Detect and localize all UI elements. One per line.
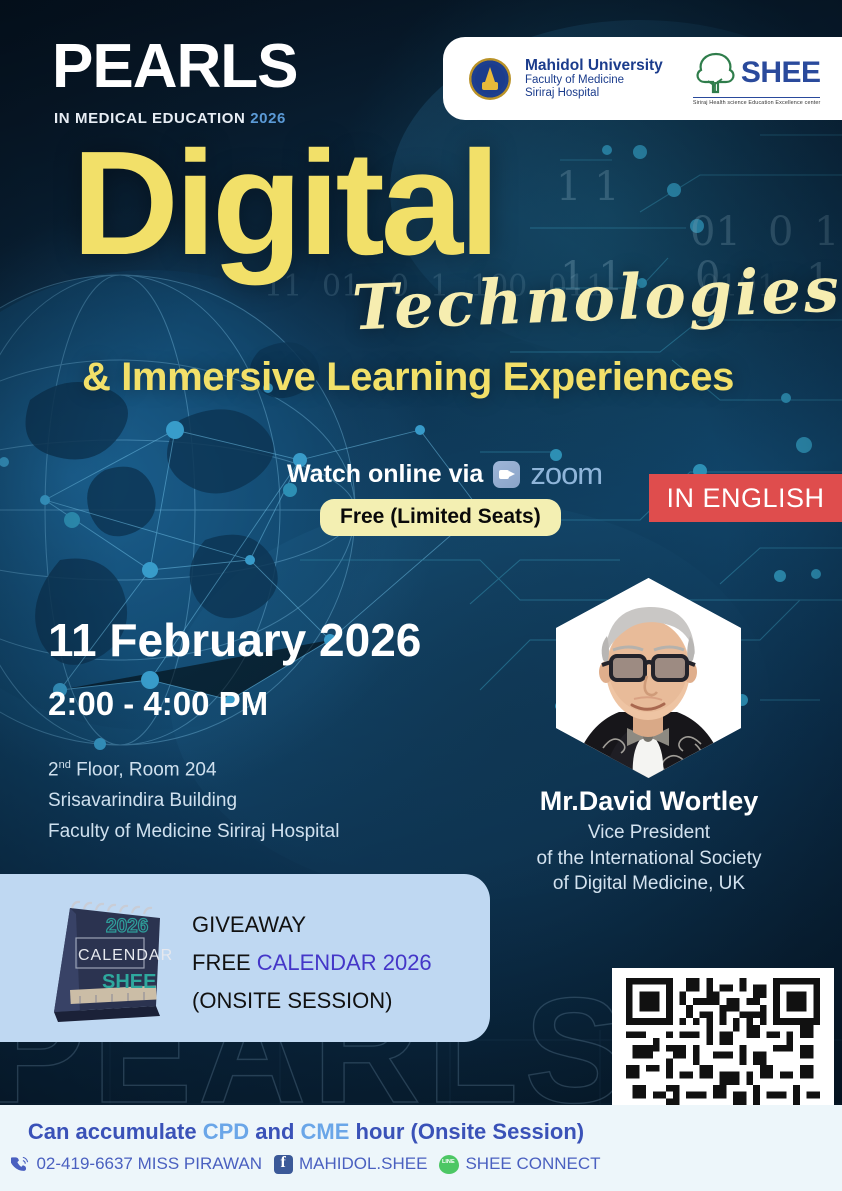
- contact-phone-label: 02-419-6637 MISS PIRAWAN: [36, 1154, 262, 1174]
- title-line-1: Digital: [72, 130, 496, 278]
- speaker-role: Vice President of the International Soci…: [500, 820, 798, 897]
- footer-credit-suffix: hour (Onsite Session): [349, 1119, 584, 1144]
- speaker-name: Mr.David Wortley: [508, 786, 790, 817]
- speaker-role-line1: Vice President: [500, 820, 798, 846]
- calendar-year-text: 2026: [106, 916, 148, 937]
- footer-contacts: 02-419-6637 MISS PIRAWAN MAHIDOL.SHEE SH…: [0, 1154, 612, 1174]
- shee-tagline: Siriraj Health science Education Excelle…: [693, 97, 821, 106]
- venue-building: Srisavarindira Building: [48, 785, 339, 816]
- brand-title: PEARLS: [52, 36, 297, 98]
- giveaway-line3: (ONSITE SESSION): [192, 982, 432, 1020]
- event-time: 2:00 - 4:00 PM: [48, 685, 268, 723]
- giveaway-line2: FREE CALENDAR 2026: [192, 944, 432, 982]
- shee-logo: SHEE Siriraj Health science Education Ex…: [693, 51, 821, 106]
- tree-icon: [693, 51, 739, 95]
- calendar-brand-text: SHEE: [102, 971, 156, 993]
- mahidol-wordmark: Mahidol University Faculty of Medicine S…: [525, 57, 663, 100]
- speaker-role-line2: of the International Society: [500, 846, 798, 872]
- giveaway-calendar-label: CALENDAR 2026: [257, 950, 432, 975]
- speaker-role-line3: of Digital Medicine, UK: [500, 871, 798, 897]
- giveaway-line1: GIVEAWAY: [192, 906, 432, 944]
- venue-floor-number: 2: [48, 759, 59, 780]
- footer-cme: CME: [301, 1119, 350, 1144]
- event-venue: 2nd Floor, Room 204 Srisavarindira Build…: [48, 750, 339, 847]
- giveaway-text: GIVEAWAY FREE CALENDAR 2026 (ONSITE SESS…: [192, 906, 432, 1020]
- venue-floor: 2nd Floor, Room 204: [48, 750, 339, 785]
- venue-faculty: Faculty of Medicine Siriraj Hospital: [48, 816, 339, 847]
- footer-bar: Can accumulate CPD and CME hour (Onsite …: [0, 1105, 842, 1191]
- zoom-camera-icon: [493, 461, 520, 488]
- mahidol-line3: Siriraj Hospital: [525, 87, 663, 100]
- zoom-wordmark: zoom: [530, 456, 602, 492]
- mahidol-line1: Mahidol University: [525, 57, 663, 74]
- watch-online-label: Watch online via: [287, 460, 483, 489]
- contact-line-label: SHEE CONNECT: [465, 1154, 600, 1174]
- giveaway-free-label: FREE: [192, 950, 257, 975]
- phone-icon: [11, 1155, 30, 1174]
- footer-cpd: CPD: [203, 1119, 249, 1144]
- event-date: 11 February 2026: [48, 613, 421, 667]
- facebook-icon: [274, 1155, 293, 1174]
- logo-card: Mahidol University Faculty of Medicine S…: [443, 37, 842, 120]
- contact-facebook[interactable]: MAHIDOL.SHEE: [274, 1154, 427, 1174]
- footer-credit-mid: and: [249, 1119, 300, 1144]
- poster-root: 1 1 1 1 01 0 1 0 1 11 01 0 1 100 011 010…: [0, 0, 842, 1191]
- watch-online-row: Watch online via zoom: [287, 456, 602, 492]
- title-line-3: & Immersive Learning Experiences: [82, 355, 734, 400]
- contact-phone[interactable]: 02-419-6637 MISS PIRAWAN: [11, 1154, 262, 1174]
- venue-floor-ordinal: nd: [59, 759, 71, 771]
- line-icon: [439, 1155, 459, 1174]
- language-badge: IN ENGLISH: [649, 474, 842, 522]
- footer-credit-line: Can accumulate CPD and CME hour (Onsite …: [0, 1119, 612, 1145]
- footer-credit-prefix: Can accumulate: [28, 1119, 203, 1144]
- venue-floor-rest: Floor, Room 204: [71, 759, 217, 780]
- calendar-word-text: CALENDAR: [78, 947, 173, 964]
- contact-line[interactable]: SHEE CONNECT: [439, 1154, 600, 1174]
- mahidol-seal-icon: [469, 58, 511, 100]
- contact-facebook-label: MAHIDOL.SHEE: [299, 1154, 427, 1174]
- shee-wordmark: SHEE: [741, 56, 821, 90]
- free-seats-badge: Free (Limited Seats): [320, 499, 561, 536]
- desk-calendar-icon: 2026 CALENDAR SHEE: [40, 894, 180, 1022]
- mahidol-line2: Faculty of Medicine: [525, 74, 663, 87]
